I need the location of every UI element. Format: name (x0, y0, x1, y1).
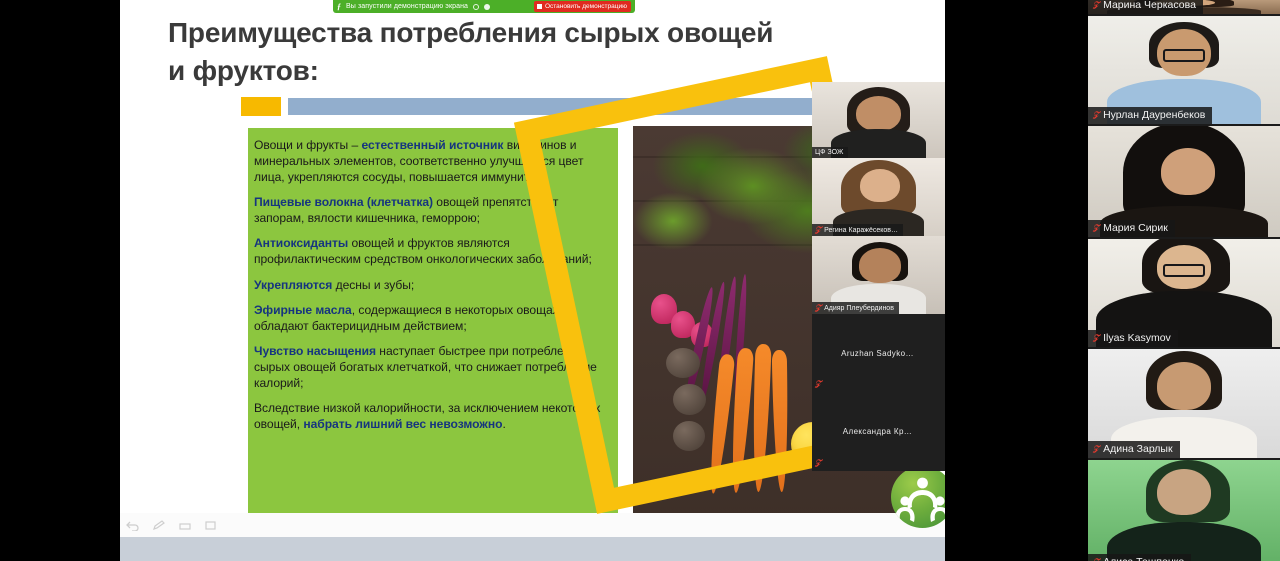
participant-video (1088, 460, 1280, 561)
participant-name-label: 𝒵Алиса Ташпенко (1088, 554, 1191, 561)
participant-name-text: Мария Сирик (1103, 222, 1168, 234)
sidebar-participant-tile[interactable]: 𝒵Алиса Ташпенко (1088, 460, 1280, 561)
muted-microphone-icon: 𝒵 (815, 304, 821, 312)
muted-microphone-icon: 𝒵 (1093, 1, 1099, 9)
participant-name-text: Марина Черкасова (1103, 0, 1196, 11)
slide-bullet-highlight: Пищевые волокна (клетчатка) (254, 195, 433, 209)
floating-participant-tile[interactable]: Aruzhan Sadyko…𝒵 (812, 314, 945, 392)
zoom-logo-icon: ƒ (337, 3, 341, 11)
participant-name-label: 𝒵Ilyas Kasymov (1088, 330, 1178, 347)
presentation-slide: Преимущества потребления сырых овощей и … (120, 0, 945, 537)
participant-name-label: 𝒵Адияр Плеубердинов (812, 302, 899, 314)
participant-name-label: 𝒵Марина Черкасова (1088, 0, 1203, 14)
decor-yellow-block (241, 97, 281, 116)
zoom-meeting-window: Преимущества потребления сырых овощей и … (0, 0, 1280, 561)
slide-bullet-highlight: набрать лишний вес невозможно (303, 417, 502, 431)
slide-bullet-highlight: Эфирные масла (254, 303, 352, 317)
floating-participant-strip[interactable]: ЦФ ЗОЖ𝒵Регина Каражёсеков…𝒵Адияр Плеубер… (812, 82, 945, 471)
muted-microphone-icon: 𝒵 (1093, 224, 1099, 232)
slide-bullet-highlight: Антиоксиданты (254, 236, 348, 250)
muted-microphone-icon: 𝒵 (815, 380, 821, 388)
participant-name-label: Александра Кр… (840, 425, 917, 438)
participant-name-text: Регина Каражёсеков… (824, 227, 898, 234)
slide-bullet-highlight: естественный источник (361, 138, 503, 152)
share-pause-icon[interactable] (473, 4, 479, 10)
sidebar-participant-tile[interactable]: 𝒵Адина Зарлык (1088, 349, 1280, 458)
sidebar-participant-tile[interactable]: 𝒵Ilyas Kasymov (1088, 239, 1280, 347)
participant-name-text: Ilyas Kasymov (1103, 332, 1171, 344)
floating-participant-tile[interactable]: 𝒵Регина Каражёсеков… (812, 158, 945, 236)
floating-participant-tile[interactable]: 𝒵Адияр Плеубердинов (812, 236, 945, 314)
sidebar-participant-tile[interactable]: 𝒵Нурлан Дауренбеков (1088, 16, 1280, 124)
muted-microphone-icon: 𝒵 (815, 459, 821, 467)
participant-name-text: ЦФ ЗОЖ (815, 149, 843, 156)
pen-icon[interactable] (152, 520, 166, 531)
participant-name-label: 𝒵Адина Зарлык (1088, 441, 1180, 458)
participant-name-text: Нурлан Дауренбеков (1103, 109, 1205, 121)
participant-video-feed (1088, 460, 1280, 561)
health-people-logo-icon (891, 466, 945, 528)
slide-annotation-toolbar[interactable] (120, 513, 945, 537)
screen-share-notification-bar: ƒ Вы запустили демонстрацию экрана Остан… (333, 0, 635, 13)
participant-name-label: 𝒵Нурлан Дауренбеков (1088, 107, 1212, 124)
sidebar-participant-tile[interactable]: 𝒵Мария Сирик (1088, 126, 1280, 237)
shape-icon[interactable] (204, 520, 218, 531)
slide-bullet-highlight: Чувство насыщения (254, 344, 376, 358)
undo-icon[interactable] (126, 520, 140, 531)
page-background-strip (120, 537, 945, 561)
slide-bullet-highlight: Укрепляются (254, 278, 332, 292)
share-annotate-icon[interactable] (484, 4, 490, 10)
muted-microphone-icon: 𝒵 (1093, 334, 1099, 342)
stop-share-button[interactable]: Остановить демонстрацию (534, 1, 631, 12)
muted-microphone-icon: 𝒵 (1093, 445, 1099, 453)
muted-microphone-icon: 𝒵 (815, 226, 821, 234)
slide-bullet: Вследствие низкой калорийности, за исклю… (254, 400, 608, 432)
left-letterbox (0, 0, 120, 561)
participant-name-text: Адина Зарлык (1103, 443, 1172, 455)
stop-share-label: Остановить демонстрацию (545, 3, 627, 10)
eraser-icon[interactable] (178, 520, 192, 531)
muted-microphone-icon: 𝒵 (1093, 111, 1099, 119)
stop-square-icon (537, 4, 542, 9)
participant-gallery-sidebar[interactable]: 𝒵Марина Черкасова𝒵Нурлан Дауренбеков𝒵Мар… (1088, 0, 1280, 561)
floating-participant-tile[interactable]: Александра Кр…𝒵 (812, 392, 945, 471)
floating-participant-tile[interactable]: ЦФ ЗОЖ (812, 82, 945, 158)
participant-name-text: Адияр Плеубердинов (824, 305, 894, 312)
slide-title-line-1: Преимущества потребления сырых овощей (168, 14, 868, 52)
participant-name-label: 𝒵Мария Сирик (1088, 220, 1175, 237)
shared-screen-region: Преимущества потребления сырых овощей и … (120, 0, 945, 561)
slide-bullet: Чувство насыщения наступает быстрее при … (254, 343, 608, 391)
participant-name-label: ЦФ ЗОЖ (812, 147, 848, 158)
participant-name-text: Алиса Ташпенко (1103, 556, 1184, 561)
sidebar-participant-tile[interactable]: 𝒵Марина Черкасова (1088, 0, 1280, 14)
participant-name-label: 𝒵Регина Каражёсеков… (812, 224, 903, 236)
share-status-text: Вы запустили демонстрацию экрана (346, 3, 468, 10)
participant-name-label: Aruzhan Sadyko… (838, 347, 919, 360)
